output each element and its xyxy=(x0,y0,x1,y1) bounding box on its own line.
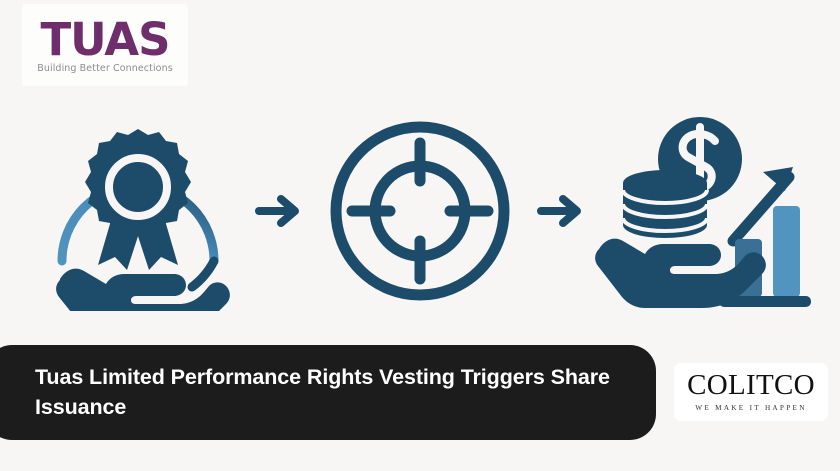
flow-step-3 xyxy=(592,111,812,316)
publisher-logo-colitco[interactable]: COLITCO WE MAKE IT HAPPEN xyxy=(674,363,828,421)
brand-logo-tuas[interactable]: TUAS Building Better Connections xyxy=(22,4,188,86)
publisher-wordmark: COLITCO xyxy=(687,371,815,400)
brand-tagline: Building Better Connections xyxy=(37,64,173,74)
hand-holding-award-icon xyxy=(32,111,244,316)
headline-bar: Tuas Limited Performance Rights Vesting … xyxy=(0,345,656,440)
arrow-right-icon xyxy=(537,194,585,233)
process-flow-graphic xyxy=(0,108,840,318)
flow-step-1 xyxy=(28,111,248,316)
flow-step-2 xyxy=(310,111,530,316)
brand-wordmark: TUAS xyxy=(40,17,169,64)
arrow-right-icon xyxy=(255,194,303,233)
flow-connector-2 xyxy=(530,111,592,316)
flow-connector-1 xyxy=(248,111,310,316)
publisher-tagline: WE MAKE IT HAPPEN xyxy=(695,405,806,412)
hand-holding-money-growth-icon xyxy=(593,111,811,316)
page-title: Tuas Limited Performance Rights Vesting … xyxy=(0,363,656,422)
target-crosshair-icon xyxy=(320,113,520,314)
article-banner: TUAS Building Better Connections xyxy=(0,0,840,471)
